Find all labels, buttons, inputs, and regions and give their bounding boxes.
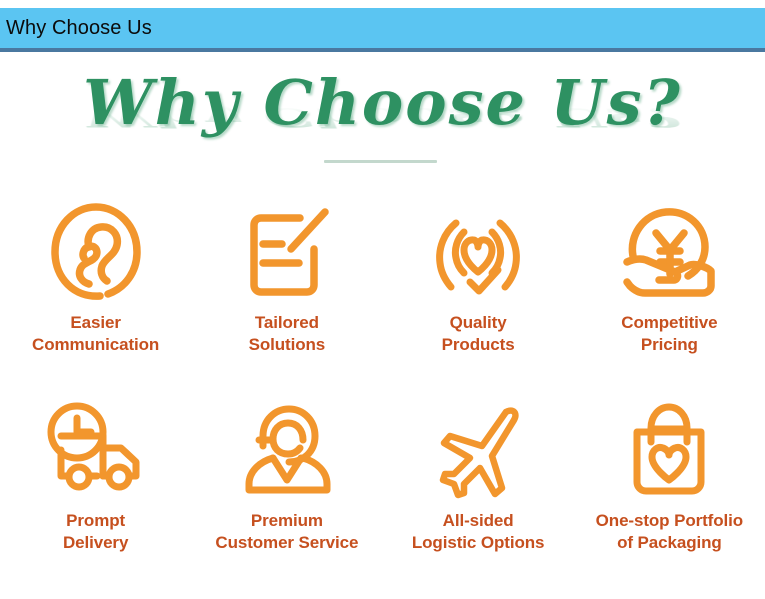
title-divider xyxy=(324,160,437,163)
hero-title: Why Choose Us? xyxy=(0,68,765,138)
feature-label: Premium Customer Service xyxy=(215,510,358,554)
feature-item-one-stop-portfolio-of-packaging[interactable]: One-stop Portfolio of Packaging xyxy=(574,394,765,592)
feature-label: Tailored Solutions xyxy=(249,312,326,356)
feature-item-all-sided-logistic-options[interactable]: All-sided Logistic Options xyxy=(383,394,574,592)
feature-label: Prompt Delivery xyxy=(63,510,128,554)
hand-holding-yen-coin-icon xyxy=(615,196,723,308)
content-area: Why Choose Us? Why Choose Us? Easier Com… xyxy=(0,56,765,599)
feature-label: All-sided Logistic Options xyxy=(412,510,545,554)
feature-label: Quality Products xyxy=(442,312,515,356)
airplane-icon xyxy=(428,394,528,506)
ear-in-circle-icon xyxy=(46,196,146,308)
hero-section: Why Choose Us? Why Choose Us? xyxy=(0,56,765,162)
shopping-bag-heart-icon xyxy=(619,394,719,506)
feature-row: Prompt Delivery Premium Customer Service xyxy=(0,394,765,592)
feature-label: Easier Communication xyxy=(32,312,159,356)
window-header-bar: Why Choose Us xyxy=(0,8,765,52)
heart-signal-check-icon xyxy=(426,196,530,308)
delivery-truck-clock-icon xyxy=(41,394,151,506)
feature-item-prompt-delivery[interactable]: Prompt Delivery xyxy=(0,394,191,592)
feature-label: Competitive Pricing xyxy=(621,312,717,356)
headset-agent-icon xyxy=(235,394,339,506)
document-pencil-icon xyxy=(237,196,337,308)
feature-item-easier-communication[interactable]: Easier Communication xyxy=(0,196,191,394)
feature-row: Easier Communication Tailored Solutions xyxy=(0,196,765,394)
feature-item-premium-customer-service[interactable]: Premium Customer Service xyxy=(191,394,382,592)
feature-grid: Easier Communication Tailored Solutions xyxy=(0,196,765,592)
feature-label: One-stop Portfolio of Packaging xyxy=(596,510,743,554)
feature-item-quality-products[interactable]: Quality Products xyxy=(383,196,574,394)
feature-item-competitive-pricing[interactable]: Competitive Pricing xyxy=(574,196,765,394)
page-title: Why Choose Us xyxy=(0,17,152,40)
feature-item-tailored-solutions[interactable]: Tailored Solutions xyxy=(191,196,382,394)
